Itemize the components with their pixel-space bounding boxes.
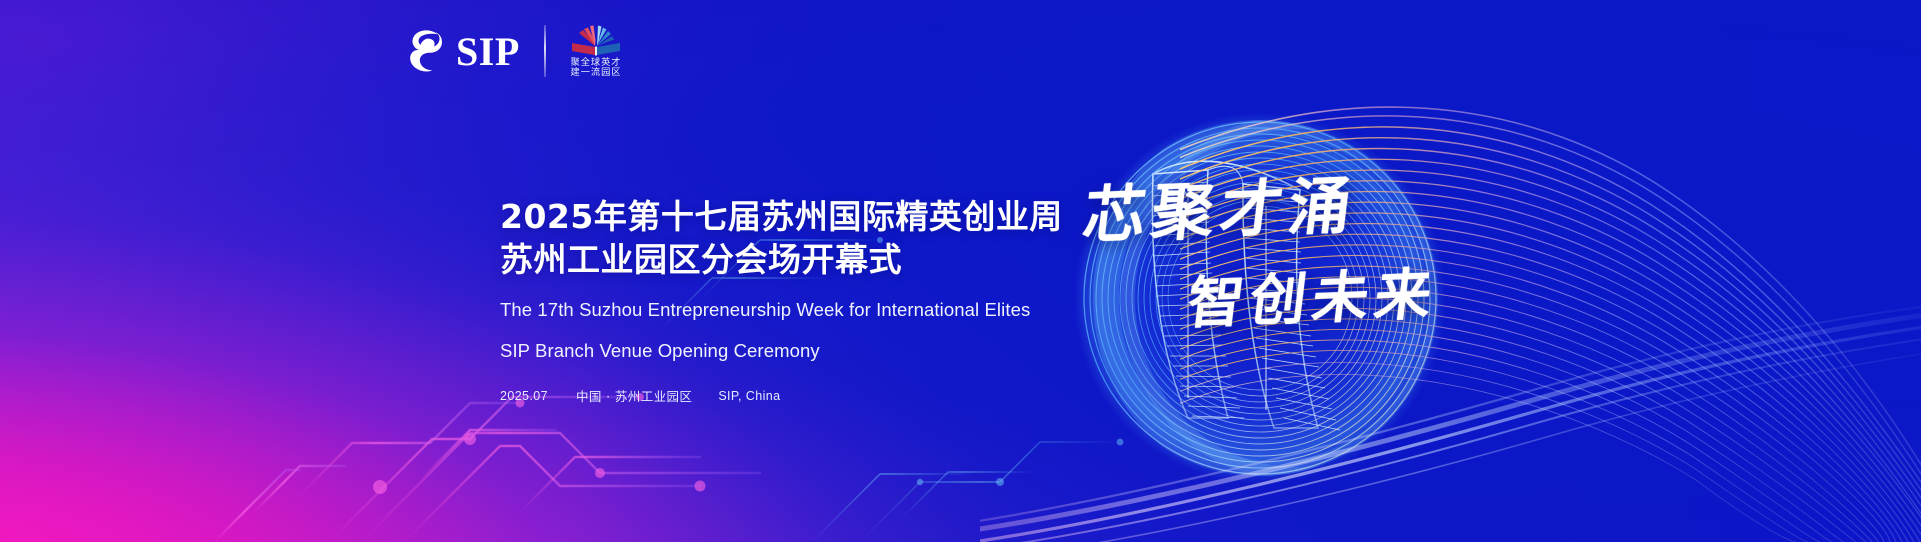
event-banner: SIP 聚全球英才 [0, 0, 1921, 542]
title-cn-line1: 2025年第十七届苏州国际精英创业周 [500, 196, 1240, 239]
event-meta: 2025.07 中国 · 苏州工业园区 SIP, China [500, 386, 1240, 405]
title-en-line2: SIP Branch Venue Opening Ceremony [500, 338, 1240, 364]
headline-block: 2025年第十七届苏州国际精英创业周 苏州工业园区分会场开幕式 The 17th… [500, 196, 1240, 405]
flowing-light-ribbons [1180, 40, 1921, 542]
event-location-en: SIP, China [718, 389, 780, 403]
sip-wordmark: SIP [456, 32, 520, 72]
event-location-cn: 中国 · 苏州工业园区 [576, 386, 692, 405]
title-cn-line2: 苏州工业园区分会场开幕式 [500, 239, 1240, 282]
talent-slogan-line2: 建一流园区 [570, 69, 621, 78]
talent-slogan: 聚全球英才 建一流园区 [571, 59, 621, 78]
talent-emblem[interactable]: 聚全球英才 建一流园区 [570, 24, 622, 78]
sip-logo[interactable]: SIP [405, 28, 520, 74]
sip-swirl-mark [405, 28, 449, 74]
event-date: 2025.07 [500, 389, 548, 403]
open-book-fan-emblem [570, 24, 622, 56]
masthead-logos: SIP 聚全球英才 [405, 18, 622, 84]
title-en-line1: The 17th Suzhou Entrepreneurship Week fo… [500, 297, 1240, 323]
vertical-divider [544, 25, 546, 77]
